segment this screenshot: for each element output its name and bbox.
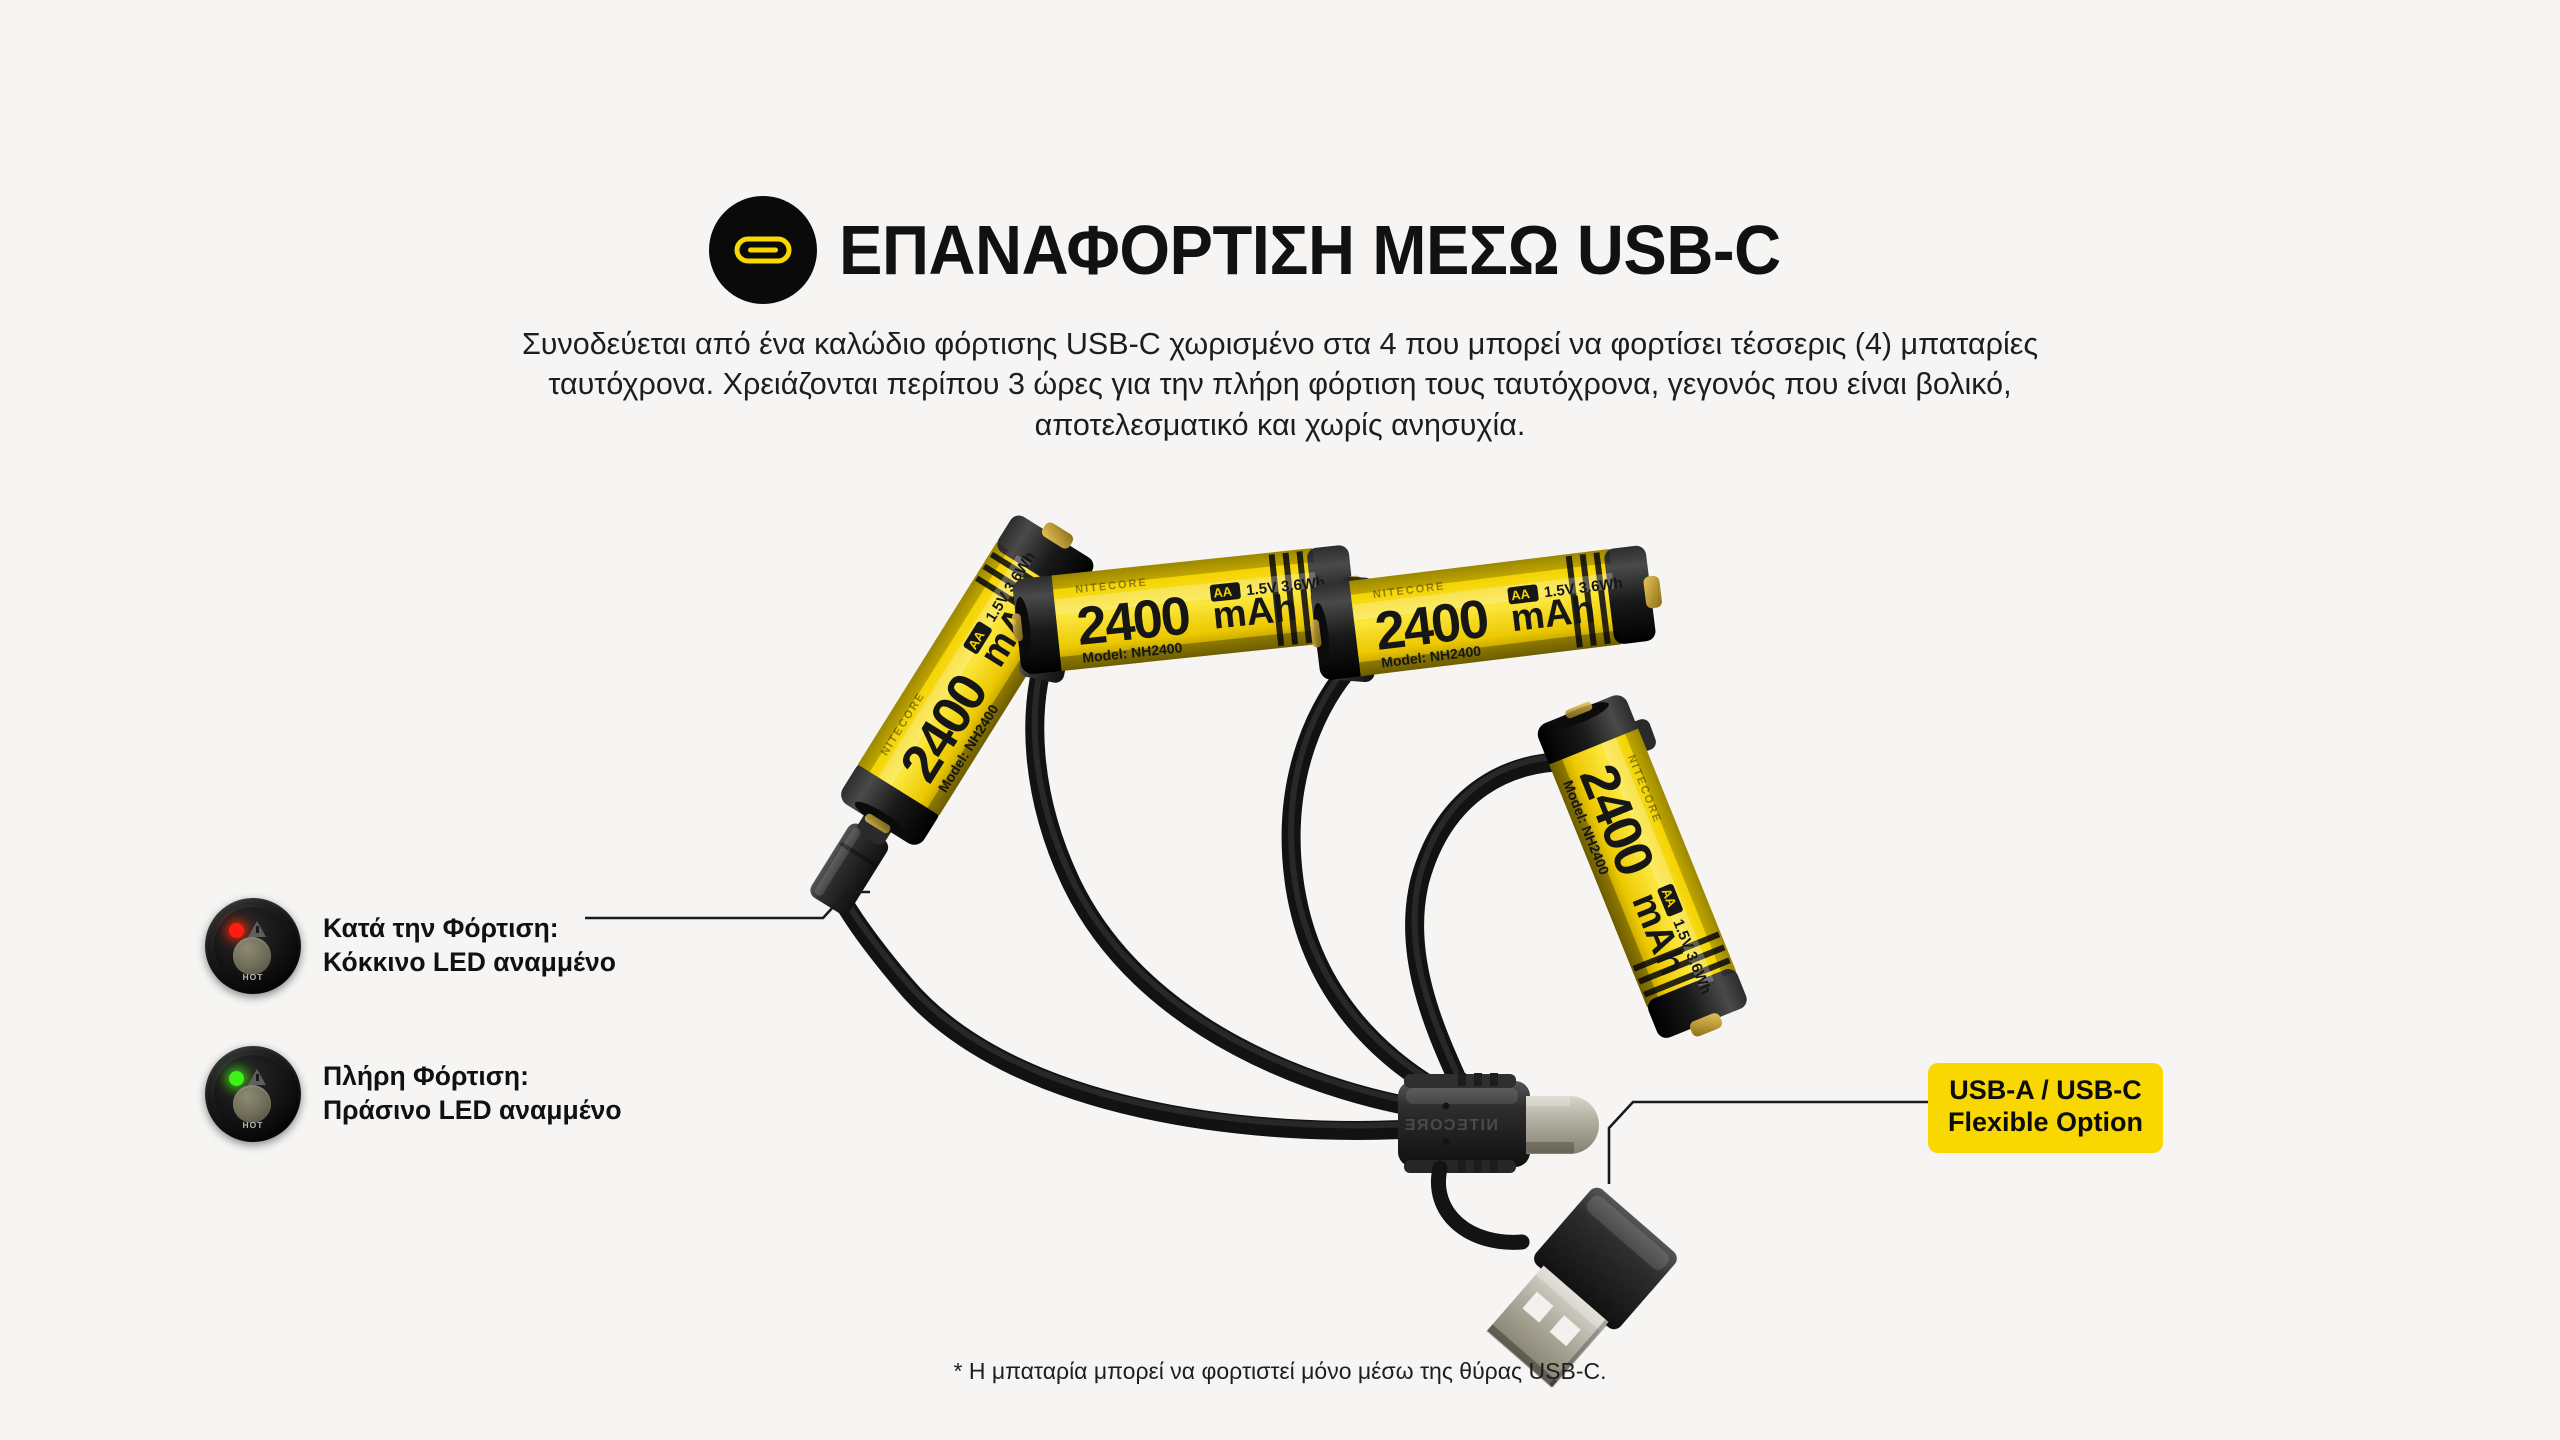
hot-label: HOT bbox=[205, 972, 301, 982]
led-dot-green bbox=[229, 1071, 244, 1086]
usb-option-badge: USB-A / USB-C Flexible Option bbox=[1928, 1063, 2163, 1153]
led-full-line1: Πλήρη Φόρτιση: bbox=[323, 1060, 622, 1094]
warning-triangle-icon bbox=[248, 921, 266, 937]
battery-cap-charging: HOT bbox=[205, 898, 301, 994]
led-indicator-full: HOT Πλήρη Φόρτιση: Πράσινο LED αναμμένο bbox=[205, 1046, 622, 1142]
led-full-labels: Πλήρη Φόρτιση: Πράσινο LED αναμμένο bbox=[323, 1060, 622, 1128]
usb-option-line1: USB-A / USB-C bbox=[1948, 1075, 2143, 1107]
footnote: * Η μπαταρία μπορεί να φορτιστεί μόνο μέ… bbox=[0, 1358, 2560, 1385]
svg-text:NITECORE: NITECORE bbox=[1403, 1117, 1498, 1134]
led-indicator-charging: HOT Κατά την Φόρτιση: Κόκκινο LED αναμμέ… bbox=[205, 898, 616, 994]
page-title: ΕΠΑΝΑΦΟΡΤΙΣΗ ΜΕΣΩ USB-C bbox=[839, 215, 1781, 285]
usb-option-line2: Flexible Option bbox=[1948, 1107, 2143, 1139]
led-charging-line1: Κατά την Φόρτιση: bbox=[323, 912, 616, 946]
leader-line-charging bbox=[575, 820, 875, 1020]
cap-button bbox=[233, 937, 271, 975]
led-charging-line2: Κόκκινο LED αναμμένο bbox=[323, 946, 616, 980]
intro-paragraph: Συνοδεύεται από ένα καλώδιο φόρτισης USB… bbox=[480, 324, 2080, 445]
led-full-line2: Πράσινο LED αναμμένο bbox=[323, 1094, 622, 1128]
warning-triangle-icon bbox=[248, 1069, 266, 1085]
cap-button bbox=[233, 1085, 271, 1123]
led-dot-red bbox=[229, 923, 244, 938]
header-section: ΕΠΑΝΑΦΟΡΤΙΣΗ ΜΕΣΩ USB-C Συνοδεύεται από … bbox=[0, 0, 2560, 445]
hot-label: HOT bbox=[205, 1120, 301, 1130]
title-row: ΕΠΑΝΑΦΟΡΤΙΣΗ ΜΕΣΩ USB-C bbox=[0, 196, 2560, 304]
led-charging-labels: Κατά την Φόρτιση: Κόκκινο LED αναμμένο bbox=[323, 912, 616, 980]
usb-c-port-icon bbox=[709, 196, 817, 304]
battery-cap-full: HOT bbox=[205, 1046, 301, 1142]
